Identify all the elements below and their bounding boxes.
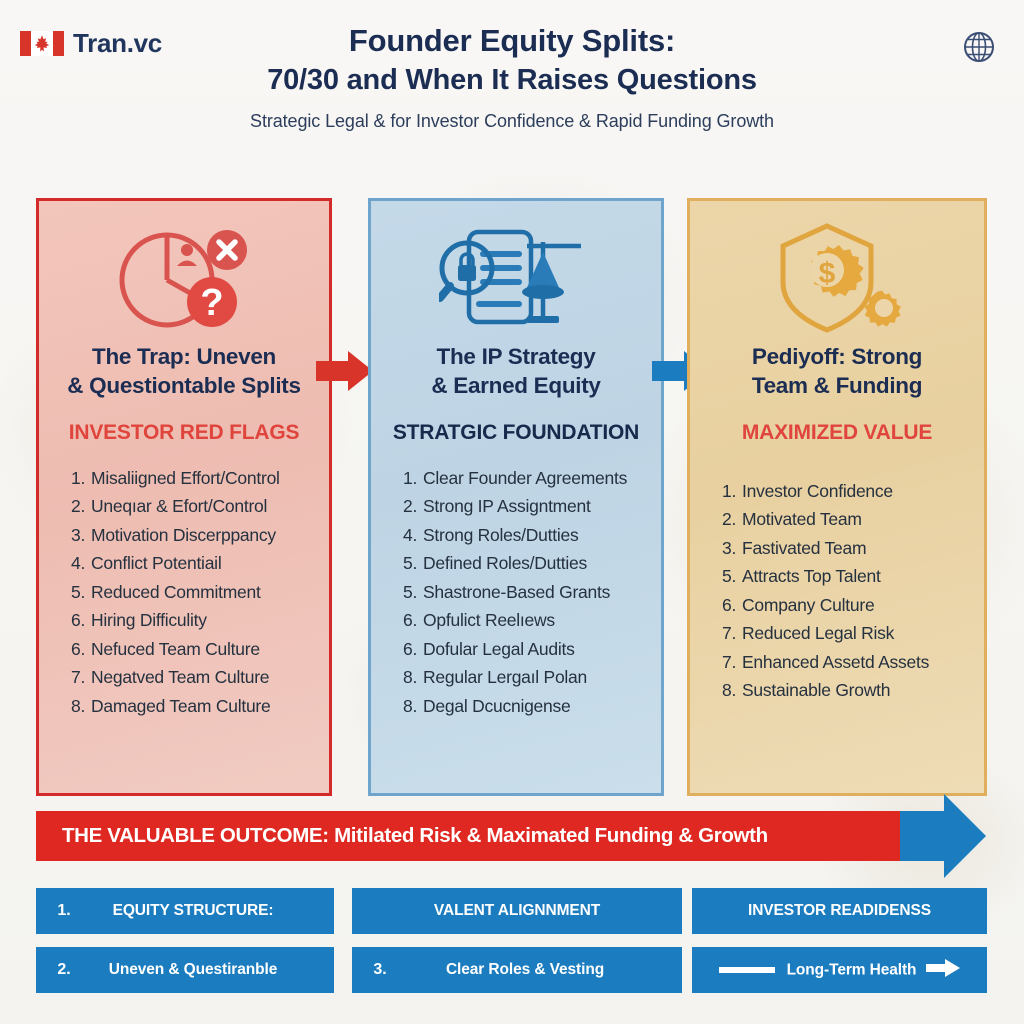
column-3-subheading: MAXIMIZED VALUE	[742, 421, 932, 445]
dash-icon	[719, 967, 775, 973]
list-item: 7.Reduced Legal Risk	[722, 619, 974, 648]
column-ip-strategy-earned-equity: The IP Strategy & Earned Equity STRATGIC…	[368, 198, 664, 796]
list-item: 1.Clear Founder Agreements	[403, 464, 651, 493]
list-item: 5.Attracts Top Talent	[722, 562, 974, 591]
list-item: 5.Defined Roles/Dutties	[403, 549, 651, 578]
outcome-banner-text: THE VALUABLE OUTCOME: Mitilated Risk & M…	[36, 824, 768, 848]
footer-tile-investor-readiness[interactable]: INVESTOR READIDENSS	[692, 888, 987, 934]
list-item: 2.Motivated Team	[722, 505, 974, 534]
list-item: 6.Dofular Legal Audits	[403, 635, 651, 664]
column-payoff-strong-team-funding: $ Pediyoff: Strong Team & Funding MAXIMI…	[687, 198, 987, 796]
footer-tile-number: 1.	[36, 902, 92, 920]
footer-tile-valent-alignment[interactable]: VALENT ALIGNNMENT	[352, 888, 682, 934]
arrow-col1-to-col2-icon	[316, 350, 374, 392]
mini-arrow-icon	[926, 959, 960, 982]
footer-tile-equity-structure[interactable]: 1. EQUITY STRUCTURE:	[36, 888, 334, 934]
list-item: 4.Strong Roles/Dutties	[403, 521, 651, 550]
column-1-subheading: INVESTOR RED FLAGS	[69, 421, 300, 445]
column-2-heading-line-2: & Earned Equity	[431, 373, 600, 398]
footer-tile-label: EQUITY STRUCTURE:	[92, 902, 334, 920]
footer-tile-label: Long-Term Health	[787, 961, 917, 978]
column-3-heading: Pediyoff: Strong Team & Funding	[752, 343, 922, 401]
globe-icon[interactable]	[960, 28, 998, 66]
shield-gear-dollar-icon: $	[767, 215, 907, 343]
svg-text:$: $	[819, 257, 836, 290]
footer-tile-label-wrap: Long-Term Health	[692, 959, 987, 982]
list-item: 8.Regular Lergaıl Polan	[403, 663, 651, 692]
footer-tile-long-term-health[interactable]: Long-Term Health	[692, 947, 987, 993]
column-1-list: 1.Misaliigned Effort/Control 2.Uneqıar &…	[49, 464, 319, 721]
column-3-heading-line-1: Pediyoff: Strong	[752, 344, 922, 369]
list-item: 2.Strong IP Assigntment	[403, 492, 651, 521]
list-item: 6.Nefuced Team Culture	[71, 635, 319, 664]
list-item: 5.Reduced Commitment	[71, 578, 319, 607]
list-item: 6.Hiring Difficulity	[71, 606, 319, 635]
footer-tiles: 1. EQUITY STRUCTURE: VALENT ALIGNNMENT I…	[0, 885, 1024, 1005]
list-item: 5.Shastrone-Based Grants	[403, 578, 651, 607]
infographic-page: Tran.vc Founder Equity Splits: 70/30 and…	[0, 0, 1024, 1024]
footer-tile-number: 3.	[352, 961, 408, 979]
column-2-list: 1.Clear Founder Agreements 2.Strong IP A…	[381, 464, 651, 721]
list-item: 6.Opfulict Reelıews	[403, 606, 651, 635]
banner-arrow-icon	[900, 794, 986, 878]
column-1-heading-line-2: & Questiontable Splits	[67, 373, 300, 398]
footer-tile-label: INVESTOR READIDENSS	[692, 902, 987, 920]
column-1-heading: The Trap: Uneven & Questiontable Splits	[67, 343, 300, 401]
pie-chart-warning-icon: ?	[109, 215, 259, 343]
list-item: 7.Enhanced Assetd Assets	[722, 648, 974, 677]
page-subtitle: Strategic Legal & for Investor Confidenc…	[0, 110, 1024, 133]
footer-tile-number: 2.	[36, 961, 92, 979]
list-item: 4.Conflict Potentiail	[71, 549, 319, 578]
header: Tran.vc Founder Equity Splits: 70/30 and…	[0, 0, 1024, 180]
footer-tile-label: Uneven & Questiranble	[92, 961, 334, 979]
columns-section: ? The Trap: Uneven & Questiontable Split…	[0, 198, 1024, 798]
document-lock-scales-icon	[439, 215, 594, 343]
list-item: 1.Misaliigned Effort/Control	[71, 464, 319, 493]
footer-tile-uneven-questionable[interactable]: 2. Uneven & Questiranble	[36, 947, 334, 993]
column-2-heading-line-1: The IP Strategy	[437, 344, 596, 369]
title-block: Founder Equity Splits: 70/30 and When It…	[0, 22, 1024, 133]
page-title-line-2: 70/30 and When It Raises Questions	[0, 62, 1024, 99]
list-item: 6.Company Culture	[722, 591, 974, 620]
list-item: 8.Damaged Team Culture	[71, 692, 319, 721]
column-1-heading-line-1: The Trap: Uneven	[92, 344, 276, 369]
list-item: 7.Negatved Team Culture	[71, 663, 319, 692]
column-3-heading-line-2: Team & Funding	[752, 373, 922, 398]
svg-text:?: ?	[200, 282, 223, 324]
column-3-list: 1.Investor Confidence 2.Motivated Team 3…	[700, 477, 974, 705]
footer-tile-label: Clear Roles & Vesting	[408, 961, 682, 979]
outcome-banner: THE VALUABLE OUTCOME: Mitilated Risk & M…	[36, 811, 944, 861]
list-item: 3.Motivation Discerppancy	[71, 521, 319, 550]
list-item: 3.Fastivated Team	[722, 534, 974, 563]
list-item: 8.Sustainable Growth	[722, 676, 974, 705]
footer-tile-label: VALENT ALIGNNMENT	[352, 902, 682, 920]
column-2-subheading: STRATGIC FOUNDATION	[393, 421, 639, 445]
footer-tile-clear-roles-vesting[interactable]: 3. Clear Roles & Vesting	[352, 947, 682, 993]
column-2-heading: The IP Strategy & Earned Equity	[431, 343, 600, 401]
list-item: 8.Degal Dcucnigense	[403, 692, 651, 721]
list-item: 2.Uneqıar & Efort/Control	[71, 492, 319, 521]
column-trap-uneven-splits: ? The Trap: Uneven & Questiontable Split…	[36, 198, 332, 796]
list-item: 1.Investor Confidence	[722, 477, 974, 506]
page-title-line-1: Founder Equity Splits:	[0, 22, 1024, 60]
